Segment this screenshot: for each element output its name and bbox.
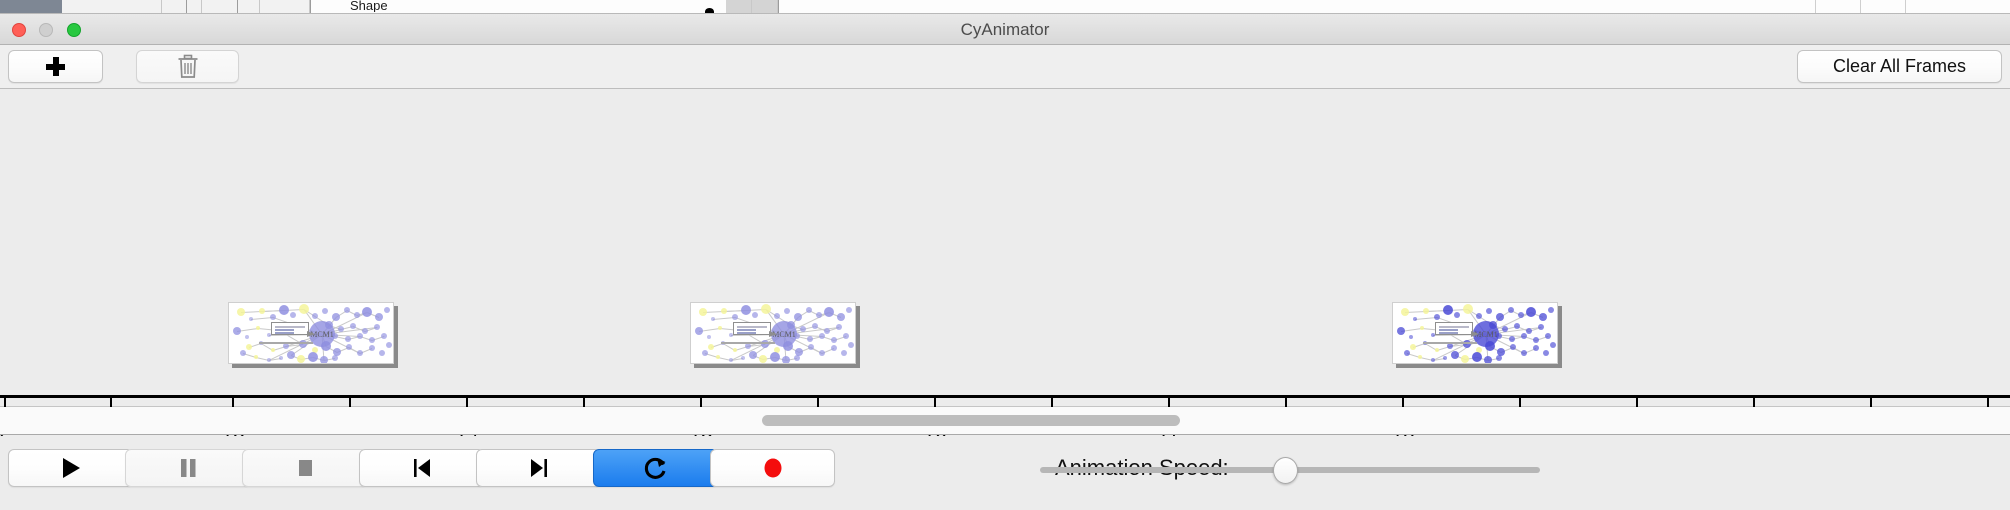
network-node [338, 326, 344, 332]
callout-pointer [1471, 331, 1479, 337]
network-node [1401, 308, 1409, 316]
network-node [1420, 326, 1424, 330]
network-node [837, 313, 845, 321]
scrollbar-thumb[interactable] [762, 415, 1180, 426]
record-icon [760, 455, 786, 481]
axis-tick-minor [1987, 398, 1989, 407]
network-node [287, 351, 295, 359]
network-node [794, 313, 802, 321]
background-divider [237, 0, 238, 14]
pause-icon [175, 455, 201, 481]
network-node [836, 324, 842, 330]
network-node [381, 333, 387, 339]
network-node [846, 307, 852, 313]
skip-back-icon [409, 455, 435, 481]
trash-icon [177, 54, 199, 79]
stop-button[interactable] [242, 449, 367, 487]
network-node [1543, 350, 1549, 356]
network-node [816, 312, 822, 318]
network-node [332, 355, 338, 361]
network-node [297, 355, 305, 363]
network-node [806, 307, 812, 313]
network-node [312, 313, 318, 319]
network-node [245, 335, 249, 339]
network-node [1409, 335, 1413, 339]
network-node [369, 337, 375, 343]
network-node [752, 312, 758, 318]
network-node [384, 307, 390, 313]
callout-text-line [737, 326, 767, 328]
play-button[interactable] [8, 449, 133, 487]
frame-network-preview: MCM1 [690, 302, 856, 364]
network-node [1413, 317, 1417, 321]
network-node [1533, 337, 1539, 343]
network-node [770, 352, 780, 362]
network-node [741, 305, 751, 315]
network-node [1526, 307, 1536, 317]
network-node [718, 326, 722, 330]
window-title: CyAnimator [0, 14, 2010, 45]
network-node [1451, 351, 1459, 359]
callout-text-line [737, 332, 756, 334]
loop-icon [642, 455, 669, 482]
network-node [699, 308, 707, 316]
network-node [346, 344, 352, 350]
callout-text-line [1439, 326, 1469, 328]
network-node [379, 350, 385, 356]
network-tooltip-callout [733, 322, 771, 335]
network-node [322, 308, 328, 314]
network-node [721, 308, 727, 314]
network-node [354, 312, 360, 318]
background-cell [62, 0, 162, 14]
network-node [1509, 336, 1515, 342]
network-node [332, 313, 340, 321]
network-node [843, 333, 849, 339]
network-node [1508, 307, 1514, 313]
network-node [711, 317, 715, 321]
network-node [1461, 355, 1469, 363]
network-node [695, 327, 703, 335]
network-node [362, 307, 372, 317]
callout-text-line [275, 326, 305, 328]
background-divider [310, 0, 311, 14]
network-node [1521, 350, 1527, 356]
network-node [1423, 308, 1429, 314]
network-node [708, 344, 714, 350]
network-node [808, 344, 814, 350]
network-node [831, 337, 837, 343]
network-node [362, 328, 368, 334]
network-node [386, 342, 392, 348]
network-node [1526, 328, 1532, 334]
background-cell [752, 0, 778, 14]
callout-pointer [307, 331, 315, 337]
background-divider [1860, 0, 1861, 14]
network-node [279, 305, 289, 315]
network-node [1533, 345, 1539, 351]
delete-frame-button[interactable] [136, 50, 239, 83]
clear-all-frames-label: Clear All Frames [1833, 56, 1966, 77]
background-divider [1905, 0, 1906, 14]
network-node [1518, 312, 1524, 318]
network-node [308, 352, 318, 362]
network-node [290, 312, 296, 318]
frame-network-preview: MCM1 [1392, 302, 1558, 364]
network-node [1431, 358, 1435, 362]
network-node [344, 307, 350, 313]
network-node [761, 304, 771, 314]
network-node [824, 307, 834, 317]
background-divider [186, 0, 187, 14]
callout-text-line [275, 332, 294, 334]
background-cell [202, 0, 260, 14]
network-node [267, 358, 271, 362]
axis-tick-minor [817, 398, 819, 407]
network-node [271, 348, 275, 352]
network-node [1484, 356, 1492, 364]
stop-icon [292, 455, 318, 481]
network-tooltip-callout [1435, 322, 1473, 335]
network-node [1486, 308, 1492, 314]
callout-pointer [769, 331, 777, 337]
network-node [812, 323, 818, 329]
network-node [1548, 307, 1554, 313]
background-titlebar-chip [0, 0, 62, 14]
network-node [1463, 304, 1473, 314]
network-node [1434, 314, 1440, 320]
background-divider [778, 0, 779, 14]
background-window-strip: Shape [0, 0, 2010, 14]
axis-tick-minor [1636, 398, 1638, 407]
network-node [350, 323, 356, 329]
axis-tick-minor [1870, 398, 1872, 407]
network-node [1418, 355, 1422, 359]
frame-network-preview: MCM1 [228, 302, 394, 364]
network-node [279, 356, 283, 360]
network-node [819, 350, 825, 356]
network-node [729, 358, 733, 362]
network-node [357, 333, 363, 339]
network-caption-text [721, 342, 775, 344]
network-node [375, 313, 383, 321]
timeline-axis [0, 395, 2010, 398]
network-node [1510, 344, 1516, 350]
network-node [320, 356, 328, 364]
timeline-panel[interactable]: 2131415161718Seconds MCM1MCM1MCM1 [0, 89, 2010, 407]
background-label: Shape [350, 0, 388, 12]
network-node [749, 351, 757, 359]
callout-text-line [1439, 332, 1458, 334]
network-node [1397, 327, 1405, 335]
network-node [831, 345, 837, 351]
network-node [1521, 333, 1527, 339]
network-node [270, 314, 276, 320]
skip-forward-icon [526, 455, 552, 481]
background-cell [260, 0, 310, 14]
network-node [702, 350, 708, 356]
network-node [345, 336, 351, 342]
axis-tick-minor [349, 398, 351, 407]
frame-toolbar: Clear All Frames [0, 45, 2010, 89]
network-node [1454, 312, 1460, 318]
network-node [259, 308, 265, 314]
loop-button[interactable] [593, 449, 718, 487]
background-divider [1815, 0, 1816, 14]
network-node [733, 348, 737, 352]
cyanimator-window: Shape CyAnimator Cle [0, 0, 2010, 510]
network-caption-text [1423, 342, 1477, 344]
network-node [1496, 313, 1504, 321]
network-node [784, 308, 790, 314]
axis-tick-minor [1051, 398, 1053, 407]
transport-bar: Animation Speed: [0, 436, 2010, 510]
clear-all-frames-button[interactable]: Clear All Frames [1797, 50, 2002, 83]
network-node [254, 355, 258, 359]
network-node [1545, 333, 1551, 339]
callout-text-line [1439, 329, 1458, 331]
timeline-frame-thumbnail[interactable]: MCM1 [690, 302, 856, 364]
background-cell [162, 0, 202, 14]
skip-start-button[interactable] [359, 449, 484, 487]
axis-tick-minor [1285, 398, 1287, 407]
network-node [357, 350, 363, 356]
network-node [732, 314, 738, 320]
network-node [1514, 323, 1520, 329]
timeline-scrollbar[interactable] [0, 407, 2010, 435]
network-node [741, 356, 745, 360]
network-node [237, 308, 245, 316]
network-node [807, 336, 813, 342]
network-node [1502, 326, 1508, 332]
network-node [1404, 350, 1410, 356]
network-node [1472, 352, 1482, 362]
network-node [1539, 313, 1547, 321]
network-node [794, 355, 800, 361]
axis-tick-minor [1753, 398, 1755, 407]
play-icon [58, 455, 84, 481]
network-node [1410, 344, 1416, 350]
network-node [841, 350, 847, 356]
network-node [374, 324, 380, 330]
network-node [774, 313, 780, 319]
axis-tick-minor [110, 398, 112, 407]
network-tooltip-callout [271, 322, 309, 335]
title-bar[interactable]: CyAnimator [0, 14, 2010, 45]
network-node [782, 356, 790, 364]
network-node [240, 350, 246, 356]
network-node [1476, 313, 1482, 319]
network-node [246, 344, 252, 350]
network-node [1443, 356, 1447, 360]
network-node [707, 335, 711, 339]
network-node [233, 327, 241, 335]
add-frame-button[interactable] [8, 50, 103, 83]
network-node [369, 345, 375, 351]
skip-end-button[interactable] [476, 449, 601, 487]
callout-text-line [275, 329, 294, 331]
network-node [824, 328, 830, 334]
network-node [848, 342, 854, 348]
network-node [1538, 324, 1544, 330]
network-node [249, 317, 253, 321]
network-node [1550, 342, 1556, 348]
network-node [819, 333, 825, 339]
plus-icon [46, 57, 65, 76]
network-node [800, 326, 806, 332]
timeline-frame-thumbnail[interactable]: MCM1 [1392, 302, 1558, 364]
callout-text-line [737, 329, 756, 331]
axis-tick-minor [1519, 398, 1521, 407]
timeline-frame-thumbnail[interactable]: MCM1 [228, 302, 394, 364]
network-node [716, 355, 720, 359]
network-node [299, 304, 309, 314]
network-caption-text [259, 342, 313, 344]
axis-tick-minor [583, 398, 585, 407]
network-node [256, 326, 260, 330]
animation-speed-slider-knob[interactable] [1273, 457, 1298, 484]
network-node [1496, 355, 1502, 361]
pause-button[interactable] [125, 449, 250, 487]
record-button[interactable] [710, 449, 835, 487]
network-node [759, 355, 767, 363]
background-cell [726, 0, 752, 14]
network-node [1435, 348, 1439, 352]
network-node [1443, 305, 1453, 315]
